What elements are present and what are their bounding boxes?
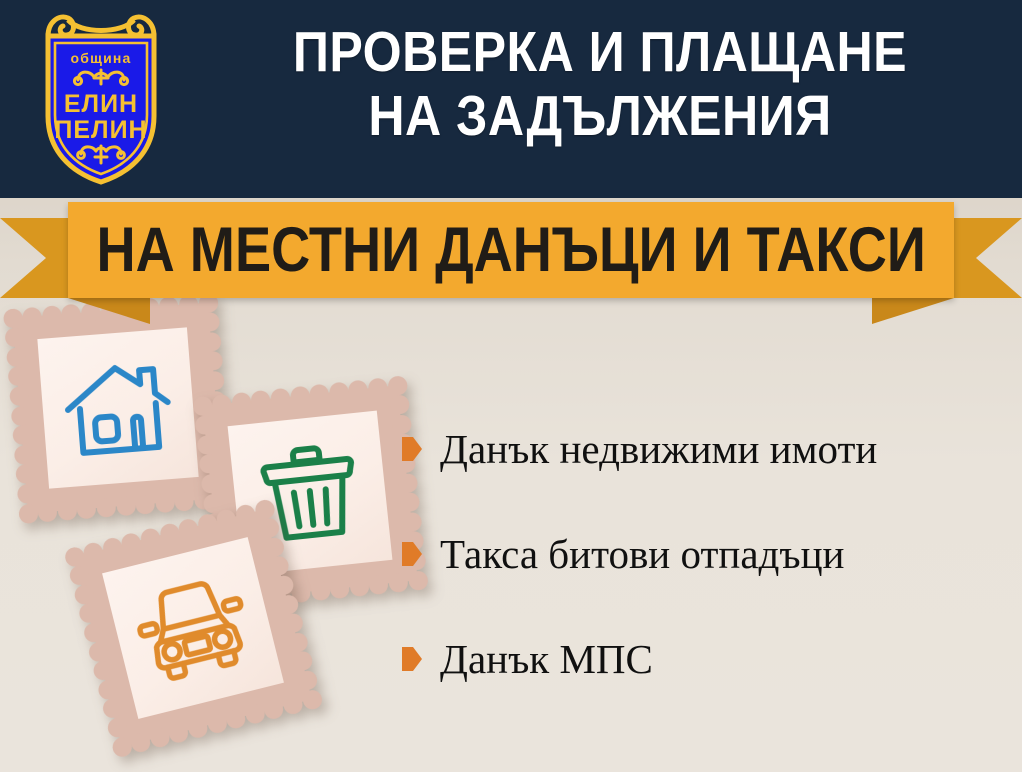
list-item[interactable]: Данък МПС bbox=[402, 634, 1022, 684]
car-front-icon bbox=[127, 568, 259, 688]
ribbon-fold-right bbox=[872, 298, 954, 324]
arrow-bullet-icon bbox=[402, 542, 422, 566]
page-title: ПРОВЕРКА И ПЛАЩАНЕ НА ЗАДЪЛЖЕНИЯ bbox=[229, 20, 972, 148]
ribbon-band: НА МЕСТНИ ДАНЪЦИ И ТАКСИ bbox=[68, 202, 954, 298]
ribbon-subtitle: НА МЕСТНИ ДАНЪЦИ И ТАКСИ bbox=[96, 217, 925, 283]
svg-text:ЕЛИН: ЕЛИН bbox=[64, 90, 138, 118]
poster-root: община ЕЛИН ПЕЛИН bbox=[0, 0, 1022, 772]
stamp-illustration-group bbox=[0, 300, 420, 772]
list-item-label: Данък недвижими имоти bbox=[440, 426, 877, 472]
stamp-card-car bbox=[74, 509, 312, 747]
list-item-label: Данък МПС bbox=[440, 636, 653, 682]
stamp-paper-house bbox=[37, 327, 198, 488]
list-item[interactable]: Такса битови отпадъци bbox=[402, 529, 1022, 579]
stamp-card-house bbox=[13, 303, 224, 514]
header-band: община ЕЛИН ПЕЛИН bbox=[0, 0, 1022, 198]
municipality-logo: община ЕЛИН ПЕЛИН bbox=[26, 8, 176, 190]
house-icon bbox=[60, 354, 176, 462]
svg-text:община: община bbox=[70, 50, 131, 66]
tax-type-list: Данък недвижими имоти Такса битови отпад… bbox=[402, 424, 1022, 684]
page-title-line2: НА ЗАДЪЛЖЕНИЯ bbox=[229, 84, 972, 148]
svg-text:ПЕЛИН: ПЕЛИН bbox=[54, 116, 147, 144]
list-item[interactable]: Данък недвижими имоти bbox=[402, 424, 1022, 474]
page-title-line1: ПРОВЕРКА И ПЛАЩАНЕ bbox=[293, 20, 907, 84]
arrow-bullet-icon bbox=[402, 647, 422, 671]
arrow-bullet-icon bbox=[402, 437, 422, 461]
ribbon-banner: НА МЕСТНИ ДАНЪЦИ И ТАКСИ bbox=[0, 198, 1022, 310]
list-item-label: Такса битови отпадъци bbox=[440, 531, 844, 577]
